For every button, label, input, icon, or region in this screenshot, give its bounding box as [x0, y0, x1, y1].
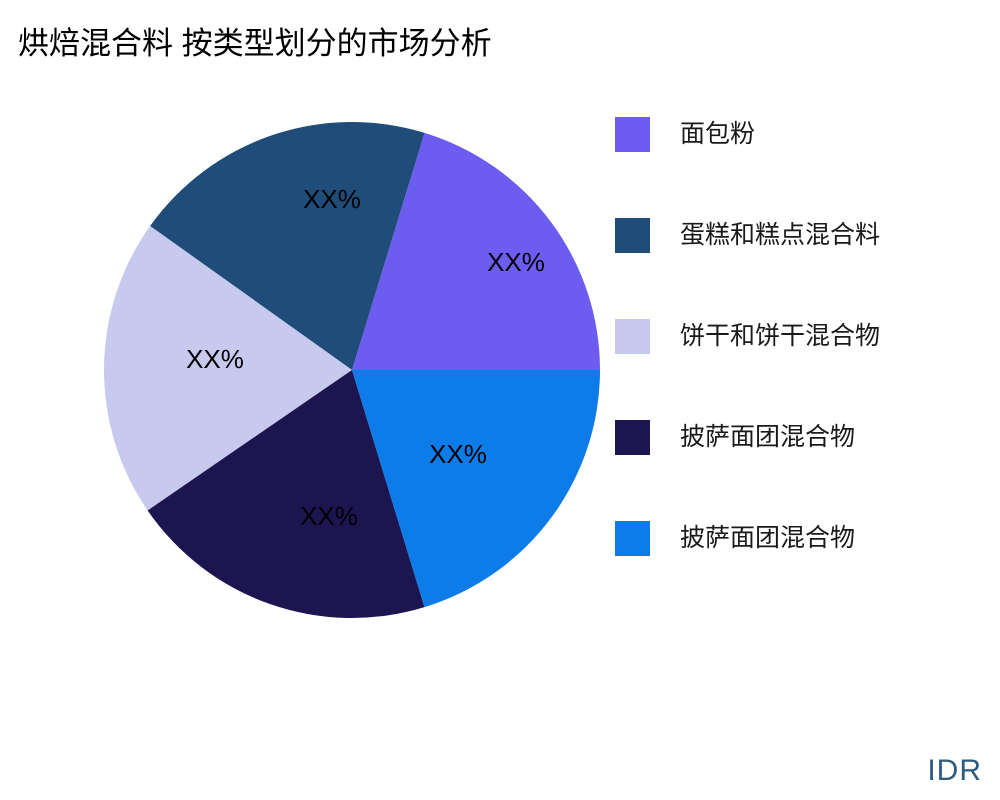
chart-page: 烘焙混合料 按类型划分的市场分析 XX%XX%XX%XX%XX% 面包粉蛋糕和糕… — [0, 0, 1000, 800]
legend: 面包粉蛋糕和糕点混合料饼干和饼干混合物披萨面团混合物披萨面团混合物 — [615, 112, 995, 560]
legend-item-label: 披萨面团混合物 — [680, 522, 855, 554]
legend-color-swatch — [615, 521, 650, 556]
legend-item-label: 饼干和饼干混合物 — [680, 320, 880, 352]
watermark-idr: IDR — [927, 754, 982, 788]
pie-slice-label: XX% — [487, 247, 545, 277]
pie-slice-label: XX% — [186, 344, 244, 374]
legend-color-swatch — [615, 218, 650, 253]
pie-slice-label: XX% — [303, 184, 361, 214]
pie-chart-svg: XX%XX%XX%XX%XX% — [103, 121, 601, 619]
page-title: 烘焙混合料 按类型划分的市场分析 — [18, 24, 492, 64]
legend-item[interactable]: 披萨面团混合物 — [615, 415, 995, 459]
pie-slice-label: XX% — [300, 501, 358, 531]
legend-color-swatch — [615, 117, 650, 152]
legend-item[interactable]: 饼干和饼干混合物 — [615, 314, 995, 358]
legend-color-swatch — [615, 319, 650, 354]
legend-item-label: 面包粉 — [680, 118, 755, 150]
legend-item-label: 蛋糕和糕点混合料 — [680, 219, 880, 251]
pie-slice-label: XX% — [429, 439, 487, 469]
legend-item[interactable]: 披萨面团混合物 — [615, 516, 995, 560]
legend-item[interactable]: 面包粉 — [615, 112, 995, 156]
legend-color-swatch — [615, 420, 650, 455]
pie-chart: XX%XX%XX%XX%XX% — [103, 121, 601, 619]
legend-item-label: 披萨面团混合物 — [680, 421, 855, 453]
legend-item[interactable]: 蛋糕和糕点混合料 — [615, 213, 995, 257]
